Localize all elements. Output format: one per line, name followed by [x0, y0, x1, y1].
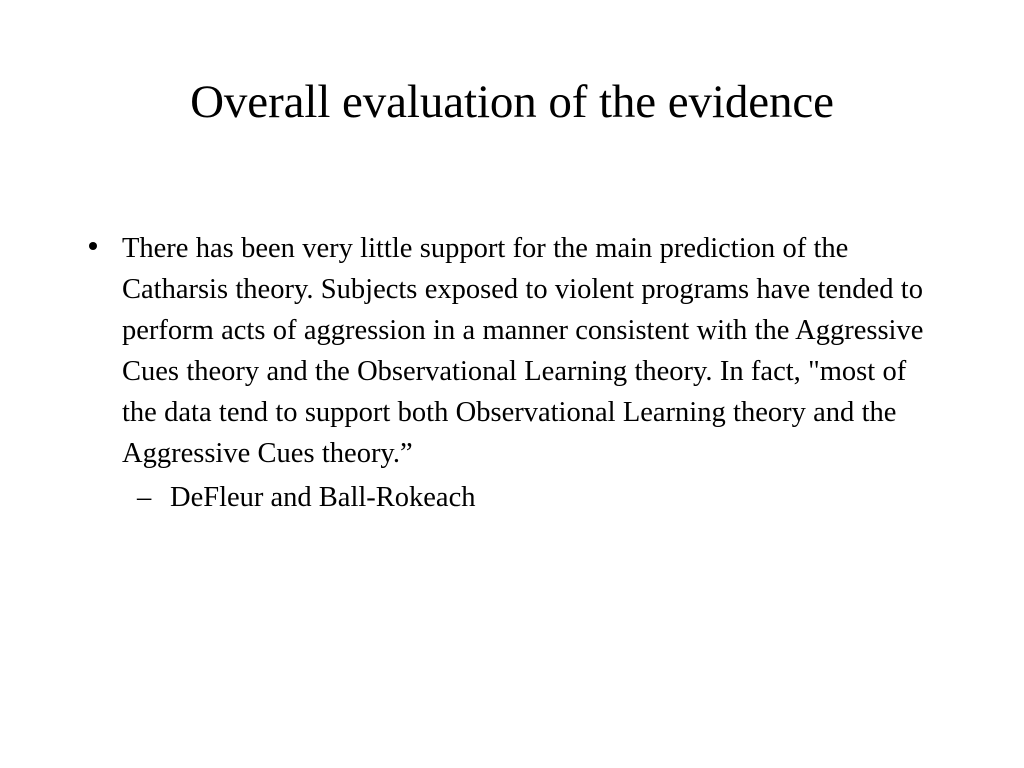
slide-body: There has been very little support for t…	[86, 228, 948, 518]
list-item-label: There has been very little support for t…	[122, 228, 948, 474]
list-item-label: DeFleur and Ball-Rokeach	[170, 477, 475, 518]
page-title: Overall evaluation of the evidence	[90, 62, 934, 143]
list-item: There has been very little support for t…	[86, 228, 948, 474]
list-item: – DeFleur and Ball-Rokeach	[86, 477, 948, 518]
en-dash-icon: –	[137, 477, 170, 518]
bullet-dot-icon	[86, 228, 122, 269]
slide: Overall evaluation of the evidence There…	[0, 0, 1024, 768]
